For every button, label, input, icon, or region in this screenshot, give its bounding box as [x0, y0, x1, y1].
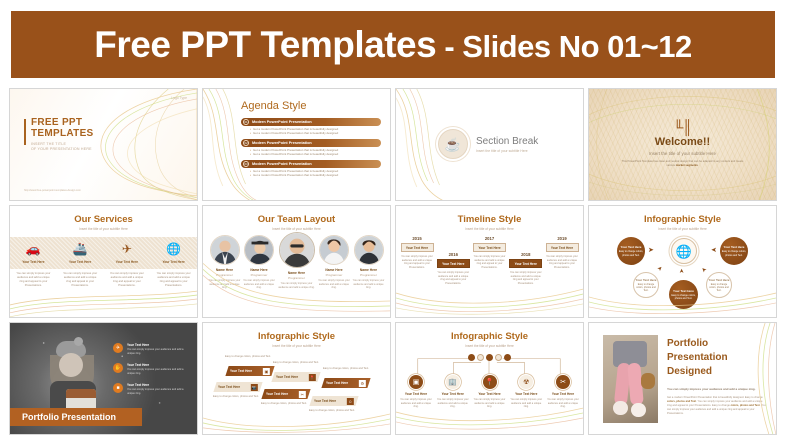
- slide-thumbnail-10[interactable]: Infographic Style Insert the title of yo…: [202, 322, 391, 435]
- timeline-desc: You can simply impress your audience and…: [473, 255, 507, 270]
- slide2-title: Agenda Style: [241, 100, 306, 112]
- service-desc: You can simply impress your audience and…: [156, 272, 191, 288]
- slide12-text-block: Portfolio Presentation Designed You can …: [667, 337, 766, 416]
- slide4-title: Welcome!!: [655, 136, 710, 148]
- banner-caption: Easy to change colors, photos and Text.: [261, 402, 307, 406]
- infographic-node[interactable]: Your Text Here Easy to change colors, ph…: [617, 237, 645, 265]
- infographic-banner[interactable]: Your Text Here ☺: [309, 396, 358, 406]
- timeline-step[interactable]: 2017 Your Text Here You can simply impre…: [473, 236, 507, 286]
- agenda-row[interactable]: 02 Modern PowerPoint Presentation Get a …: [241, 139, 381, 157]
- portfolio-item-desc: You can simply impress your audience and…: [127, 348, 191, 355]
- tree-node[interactable]: 📍 Your Text Here You can simply impress …: [473, 375, 507, 409]
- member-role: Programmer: [216, 273, 233, 277]
- title-separator: -: [436, 29, 462, 64]
- arrow-up-right-icon: ➤: [657, 265, 665, 273]
- building-icon: 🏢: [446, 375, 460, 389]
- photo-face: [59, 353, 83, 377]
- slide-thumbnail-05[interactable]: Our Services Insert the title of your su…: [9, 205, 198, 318]
- portfolio-item-text: Your Text Here You can simply impress yo…: [127, 343, 191, 355]
- timeline-box: Your Text Here: [546, 243, 579, 252]
- member-desc: You can simply impress your audience and…: [243, 279, 276, 290]
- team-member[interactable]: Name Here Programmer You can simply impr…: [243, 235, 276, 290]
- car-icon: 🚗: [26, 243, 41, 255]
- member-name: Name Here: [250, 268, 267, 272]
- agenda-bullet: Get a modern PowerPoint Presentation tha…: [250, 173, 381, 177]
- agenda-bullets: Get a modern PowerPoint Presentation tha…: [241, 126, 381, 136]
- tree-node-title: Your Text Here: [552, 392, 574, 396]
- tree-node[interactable]: ▣ Your Text Here You can simply impress …: [399, 375, 433, 409]
- tree-node-title: Your Text Here: [405, 392, 427, 396]
- service-desc-cell: You can simply impress your audience and…: [150, 272, 197, 288]
- banner-caption: Easy to change colors, photos and Text.: [323, 367, 369, 371]
- agenda-label: Modern PowerPoint Presentation: [252, 120, 312, 124]
- slide-thumbnail-12[interactable]: Portfolio Presentation Designed You can …: [588, 322, 777, 435]
- photo-teddy: [641, 373, 655, 389]
- avatar: [244, 235, 274, 265]
- member-name: Name Here: [360, 268, 377, 272]
- agenda-row[interactable]: 03 Modern PowerPoint Presentation Get a …: [241, 160, 381, 178]
- timeline-step[interactable]: 2018 Your Text Here You can simply impre…: [509, 252, 543, 286]
- node-label: Your Text Here: [673, 289, 694, 293]
- slide5-subtitle: Insert the title of your subtitle Here: [10, 227, 197, 231]
- gate-pillar-icon: ╙║: [674, 121, 692, 134]
- pin-icon: 📍: [309, 374, 316, 381]
- tree-node-title: Your Text Here: [442, 392, 464, 396]
- scissors-icon: ✂: [299, 391, 306, 398]
- agenda-bullets: Get a modern PowerPoint Presentation tha…: [241, 147, 381, 157]
- ship-icon: 🚢: [73, 243, 88, 255]
- banner-label: Your Text Here: [230, 369, 252, 373]
- member-role: Programmer: [251, 273, 268, 277]
- slide12-body: Get a modern PowerPoint Presentation tha…: [667, 396, 766, 416]
- slide5-title: Our Services: [10, 214, 197, 225]
- avatar-photo: [320, 236, 348, 264]
- infographic-banner[interactable]: Your Text Here ⚙: [321, 378, 370, 388]
- portfolio-photo: [603, 335, 658, 423]
- timeline-desc: You can simply impress your audience and…: [545, 255, 579, 270]
- timeline-desc: You can simply impress your audience and…: [400, 255, 434, 270]
- service-label: Your Text Here: [69, 260, 91, 264]
- infographic-node[interactable]: Your Text Here Easy to change colors, ph…: [669, 280, 698, 309]
- slide4-body-post: .: [698, 164, 699, 167]
- service-desc: You can simply impress your audience and…: [110, 272, 145, 288]
- arrow-up-icon: ➤: [680, 268, 686, 273]
- node-desc: Easy to change colors, photos and Text.: [707, 283, 731, 293]
- infographic-banner[interactable]: Your Text Here ✂: [261, 389, 310, 399]
- airplane-icon: ✈: [122, 243, 132, 255]
- welcome-block: ╙║ Welcome!! Insert the title of your su…: [589, 89, 776, 200]
- monitor-icon: ▣: [409, 375, 423, 389]
- tree-dot[interactable]: [468, 354, 475, 361]
- tree-node-desc: You can simply impress your audience and…: [473, 398, 507, 409]
- slide12-title-line1: Portfolio: [667, 337, 766, 351]
- service-desc-cell: You can simply impress your audience and…: [10, 272, 57, 288]
- tree-node-title: Your Text Here: [478, 392, 500, 396]
- timeline-box: Your Text Here: [401, 243, 434, 252]
- tree-dot[interactable]: [495, 354, 502, 361]
- tree-node-desc: You can simply impress your audience and…: [399, 398, 433, 409]
- slide3-title: Section Break: [476, 136, 538, 147]
- tree-node[interactable]: ☢ Your Text Here You can simply impress …: [509, 375, 543, 409]
- timeline-desc: You can simply impress your audience and…: [509, 271, 543, 286]
- team-member-featured[interactable]: Name Here Programmer You can simply impr…: [277, 232, 316, 289]
- agenda-label: Modern PowerPoint Presentation: [252, 162, 312, 166]
- service-item[interactable]: 🚗 Your Text Here: [10, 237, 57, 269]
- timeline-year: 2018: [521, 252, 530, 257]
- team-member[interactable]: Name Here Programmer You can simply impr…: [352, 235, 385, 290]
- agenda-row[interactable]: 01 Modern PowerPoint Presentation Get a …: [241, 118, 381, 136]
- member-name: Name Here: [288, 271, 305, 275]
- portfolio-item[interactable]: ✋ Your Text Here You can simply impress …: [113, 363, 191, 375]
- team-member[interactable]: Name Here Programmer You can simply impr…: [208, 235, 241, 290]
- slide1-subtitle-line2: OF YOUR PRESENTATION HERE: [31, 147, 92, 152]
- tree-node-desc: You can simply impress your audience and…: [546, 398, 580, 409]
- slide1-title-line1: FREE PPT: [31, 117, 94, 128]
- portfolio-title: Portfolio Presentation: [22, 412, 116, 422]
- slide-thumbnail-11[interactable]: Infographic Style Insert the title of yo…: [395, 322, 584, 435]
- member-desc: You can simply impress your audience and…: [208, 279, 241, 290]
- slide12-body-em2: colors, photos and Text: [731, 404, 760, 407]
- camera-icon: 📷: [251, 384, 258, 391]
- avatar-photo: [211, 236, 239, 264]
- service-desc-cell: You can simply impress your audience and…: [104, 272, 151, 288]
- node-desc: Easy to change colors, photos and Text.: [617, 250, 645, 257]
- portfolio-item-title: Your Text Here: [127, 383, 191, 387]
- member-desc: You can simply impress your audience and…: [318, 279, 351, 290]
- book-icon: ■: [113, 383, 123, 393]
- node-label: Your Text Here: [724, 245, 745, 249]
- tree-node[interactable]: 🏢 Your Text Here You can simply impress …: [436, 375, 470, 409]
- portfolio-item-text: Your Text Here You can simply impress yo…: [127, 383, 191, 395]
- section-break-text: Section Break Insert the title of your s…: [476, 136, 538, 153]
- globe-icon: 🌐: [166, 243, 181, 255]
- arrow-left-icon: ➤: [711, 247, 717, 254]
- timeline-step[interactable]: 2016 Your Text Here You can simply impre…: [436, 252, 470, 286]
- portfolio-item[interactable]: ■ Your Text Here You can simply impress …: [113, 383, 191, 395]
- banner-caption: Easy to change colors, photos and Text.: [309, 409, 355, 413]
- node-desc: Easy to change colors, photos and Text.: [720, 250, 748, 257]
- service-desc: You can simply impress your audience and…: [63, 272, 98, 288]
- member-role: Programmer: [288, 276, 305, 280]
- member-desc: You can simply impress your audience and…: [352, 279, 385, 290]
- photo-slipper-right: [631, 403, 646, 417]
- timeline-box: Your Text Here: [473, 243, 506, 252]
- member-role: Programmer: [326, 273, 343, 277]
- service-item[interactable]: ✈ Your Text Here: [104, 237, 151, 269]
- tree-node-desc: You can simply impress your audience and…: [436, 398, 470, 409]
- slide12-title-line2: Presentation: [667, 351, 766, 365]
- slide10-subtitle: Insert the title of your subtitle Here: [203, 344, 390, 348]
- avatar-photo: [280, 233, 314, 267]
- infographic-banner[interactable]: Your Text Here ▣: [225, 366, 274, 376]
- portfolio-title-bar: Portfolio Presentation: [10, 408, 142, 426]
- node-label: Your Text Here: [621, 245, 642, 249]
- avatar: [210, 235, 240, 265]
- slide-thumbnail-06[interactable]: Our Team Layout Insert the title of your…: [202, 205, 391, 318]
- coffee-cup-glyph: ☕: [445, 138, 461, 151]
- timeline-step[interactable]: 2019 Your Text Here You can simply impre…: [545, 236, 579, 286]
- banner-label: Your Text Here: [218, 385, 240, 389]
- infographic-banner[interactable]: Your Text Here 📷: [213, 382, 262, 392]
- avatar: [279, 232, 315, 268]
- tree-dot[interactable]: [477, 354, 484, 361]
- tree-node[interactable]: ✂ Your Text Here You can simply impress …: [546, 375, 580, 409]
- photo-slipper-left: [613, 401, 628, 415]
- tree-dot[interactable]: [486, 354, 493, 361]
- avatar: [319, 235, 349, 265]
- team-member[interactable]: Name Here Programmer You can simply impr…: [318, 235, 351, 290]
- banner-label: Your Text Here: [276, 375, 298, 379]
- timeline-year: 2017: [485, 236, 494, 241]
- banner-caption: Easy to change colors, photos and Text.: [213, 395, 259, 399]
- slide-thumbnail-09[interactable]: ✈ Your Text Here You can simply impress …: [9, 322, 198, 435]
- templates-preview-page: Free PPT Templates - Slides No 01~12 Log…: [0, 0, 786, 445]
- slide-thumbnail-07[interactable]: Timeline Style Insert the title of your …: [395, 205, 584, 318]
- agenda-number: 03: [243, 161, 249, 167]
- node-desc: Easy to change colors, photos and Text.: [634, 283, 658, 293]
- header-banner: Free PPT Templates - Slides No 01~12: [11, 11, 775, 78]
- timeline-desc: You can simply impress your audience and…: [436, 271, 470, 286]
- radiation-icon: ☢: [519, 375, 533, 389]
- banner-caption: Easy to change colors, photos and Text.: [225, 355, 271, 359]
- timeline-step[interactable]: 2015 Your Text Here You can simply impre…: [400, 236, 434, 286]
- infographic-stage: 🌐 Your Text Here Easy to change colors, …: [589, 206, 776, 317]
- slide12-body-pre: Get a modern PowerPoint Presentation tha…: [667, 396, 763, 399]
- pin-icon: 📍: [483, 375, 497, 389]
- timeline-box: Your Text Here: [437, 259, 470, 268]
- agenda-label: Modern PowerPoint Presentation: [252, 141, 312, 145]
- avatar: [354, 235, 384, 265]
- arrow-up-left-icon: ➤: [701, 265, 709, 273]
- service-desc: You can simply impress your audience and…: [16, 272, 51, 288]
- portfolio-list: ✈ Your Text Here You can simply impress …: [113, 343, 191, 404]
- slide4-body-em: market segments: [676, 164, 698, 167]
- agenda-bullet: Get a modern PowerPoint Presentation tha…: [250, 131, 381, 135]
- service-label: Your Text Here: [22, 260, 44, 264]
- node-desc: Easy to change colors, photos and Text.: [669, 294, 698, 301]
- service-label: Your Text Here: [163, 260, 185, 264]
- slide-grid: Logo Type FREE PPT TEMPLATES INSERT THE …: [9, 88, 777, 438]
- slide4-subtitle: Insert the title of your subtitle Here: [649, 151, 716, 156]
- title-accent-bar: [24, 119, 26, 145]
- member-name: Name Here: [216, 268, 233, 272]
- agenda-pill[interactable]: 03 Modern PowerPoint Presentation: [241, 160, 381, 168]
- slide-thumbnail-02[interactable]: Agenda Style 01 Modern PowerPoint Presen…: [202, 88, 391, 201]
- timeline-row: 2015 Your Text Here You can simply impre…: [400, 236, 579, 286]
- agenda-list: 01 Modern PowerPoint Presentation Get a …: [241, 118, 381, 180]
- rocket-icon: ✈: [113, 343, 123, 353]
- agenda-number: 02: [243, 140, 249, 146]
- agenda-bullet: Get a modern PowerPoint Presentation tha…: [250, 152, 381, 156]
- service-item[interactable]: 🌐 Your Text Here: [150, 237, 197, 269]
- scissors-icon: ✂: [556, 375, 570, 389]
- banner-label: Your Text Here: [266, 392, 288, 396]
- slide12-title-line3: Designed: [667, 365, 766, 379]
- portfolio-item-desc: You can simply impress your audience and…: [127, 368, 191, 375]
- portfolio-item-text: Your Text Here You can simply impress yo…: [127, 363, 191, 375]
- tree-top-dots: [396, 354, 583, 361]
- slide7-subtitle: Insert the title of your subtitle Here: [396, 227, 583, 231]
- timeline-year: 2015: [412, 236, 421, 241]
- member-role: Programmer: [360, 273, 377, 277]
- arrow-right-icon: ➤: [648, 247, 654, 254]
- slide-thumbnail-04[interactable]: ╙║ Welcome!! Insert the title of your su…: [588, 88, 777, 201]
- globe-icon: 🌐: [671, 238, 697, 264]
- gear-icon: ⚙: [359, 380, 366, 387]
- timeline-year: 2019: [557, 236, 566, 241]
- portfolio-item-desc: You can simply impress your audience and…: [127, 388, 191, 395]
- agenda-bullets: Get a modern PowerPoint Presentation tha…: [241, 168, 381, 178]
- slide1-url: http://www.free-powerpoint-templates-des…: [24, 189, 81, 192]
- slide-thumbnail-03[interactable]: ☕ Section Break Insert the title of your…: [395, 88, 584, 201]
- banner-label: Your Text Here: [314, 399, 336, 403]
- slide10-title: Infographic Style: [203, 331, 390, 342]
- slide12-subtitle: You can simply impress your audience and…: [667, 387, 766, 391]
- service-desc-cell: You can simply impress your audience and…: [57, 272, 104, 288]
- infographic-node[interactable]: Your Text Here Easy to change colors, ph…: [633, 272, 659, 298]
- coffee-cup-icon: ☕: [438, 129, 468, 159]
- section-break-block: ☕ Section Break Insert the title of your…: [438, 129, 538, 159]
- services-icon-band: 🚗 Your Text Here 🚢 Your Text Here ✈ Your…: [10, 237, 197, 269]
- tree-node-title: Your Text Here: [515, 392, 537, 396]
- infographic-node[interactable]: Your Text Here Easy to change colors, ph…: [720, 237, 748, 265]
- member-name: Name Here: [325, 268, 342, 272]
- tree-node-desc: You can simply impress your audience and…: [509, 398, 543, 409]
- slide6-title: Our Team Layout: [203, 214, 390, 225]
- slide12-body-em1: colors, photos and Text: [667, 400, 696, 403]
- infographic-banner[interactable]: Your Text Here 📍: [271, 372, 320, 382]
- node-label: Your Text Here: [636, 278, 657, 282]
- slide4-body: This PowerPoint Template has clean and n…: [618, 160, 748, 168]
- slide1-subtitle: INSERT THE TITLE OF YOUR PRESENTATION HE…: [31, 142, 92, 152]
- banner-caption: Easy to change colors, photos and Text.: [273, 361, 319, 365]
- portfolio-item-title: Your Text Here: [127, 363, 191, 367]
- slide7-title: Timeline Style: [396, 214, 583, 225]
- timeline-box: Your Text Here: [509, 259, 542, 268]
- avatar-photo: [245, 236, 273, 264]
- page-title: Free PPT Templates - Slides No 01~12: [94, 24, 691, 66]
- person-icon: ☺: [347, 398, 354, 405]
- logo-placeholder: Logo Type: [171, 96, 187, 100]
- timeline-year: 2016: [449, 252, 458, 257]
- tree-columns: ▣ Your Text Here You can simply impress …: [399, 375, 580, 409]
- team-row: Name Here Programmer You can simply impr…: [208, 235, 385, 290]
- photo-pompom: [74, 337, 83, 346]
- title-sub: Slides No 01~12: [462, 29, 691, 64]
- service-label: Your Text Here: [116, 260, 138, 264]
- tree-dot[interactable]: [504, 354, 511, 361]
- services-descriptions: You can simply impress your audience and…: [10, 272, 197, 288]
- slide1-title-line2: TEMPLATES: [31, 128, 94, 139]
- portfolio-item[interactable]: ✈ Your Text Here You can simply impress …: [113, 343, 191, 355]
- title-main: Free PPT Templates: [94, 24, 436, 65]
- slide6-subtitle: Insert the title of your subtitle Here: [203, 227, 390, 231]
- avatar-photo: [355, 236, 383, 264]
- hand-icon: ✋: [113, 363, 123, 373]
- portfolio-item-title: Your Text Here: [127, 343, 191, 347]
- slide-thumbnail-08[interactable]: Infographic Style Insert the title of yo…: [588, 205, 777, 318]
- slide1-title: FREE PPT TEMPLATES: [31, 117, 94, 139]
- globe-glyph: 🌐: [676, 245, 692, 258]
- node-label: Your Text Here: [709, 278, 730, 282]
- agenda-number: 01: [243, 119, 249, 125]
- monitor-icon: ▣: [263, 368, 270, 375]
- slide-thumbnail-01[interactable]: Logo Type FREE PPT TEMPLATES INSERT THE …: [9, 88, 198, 201]
- photo-bag-flap: [66, 389, 96, 398]
- agenda-pill[interactable]: 02 Modern PowerPoint Presentation: [241, 139, 381, 147]
- infographic-node[interactable]: Your Text Here Easy to change colors, ph…: [706, 272, 732, 298]
- slide3-subtitle: Insert the title of your subtitle Here: [476, 149, 538, 153]
- member-desc: You can simply impress your audience and…: [277, 282, 316, 289]
- banner-label: Your Text Here: [326, 381, 348, 385]
- slide12-title: Portfolio Presentation Designed: [667, 337, 766, 379]
- agenda-pill[interactable]: 01 Modern PowerPoint Presentation: [241, 118, 381, 126]
- service-item[interactable]: 🚢 Your Text Here: [57, 237, 104, 269]
